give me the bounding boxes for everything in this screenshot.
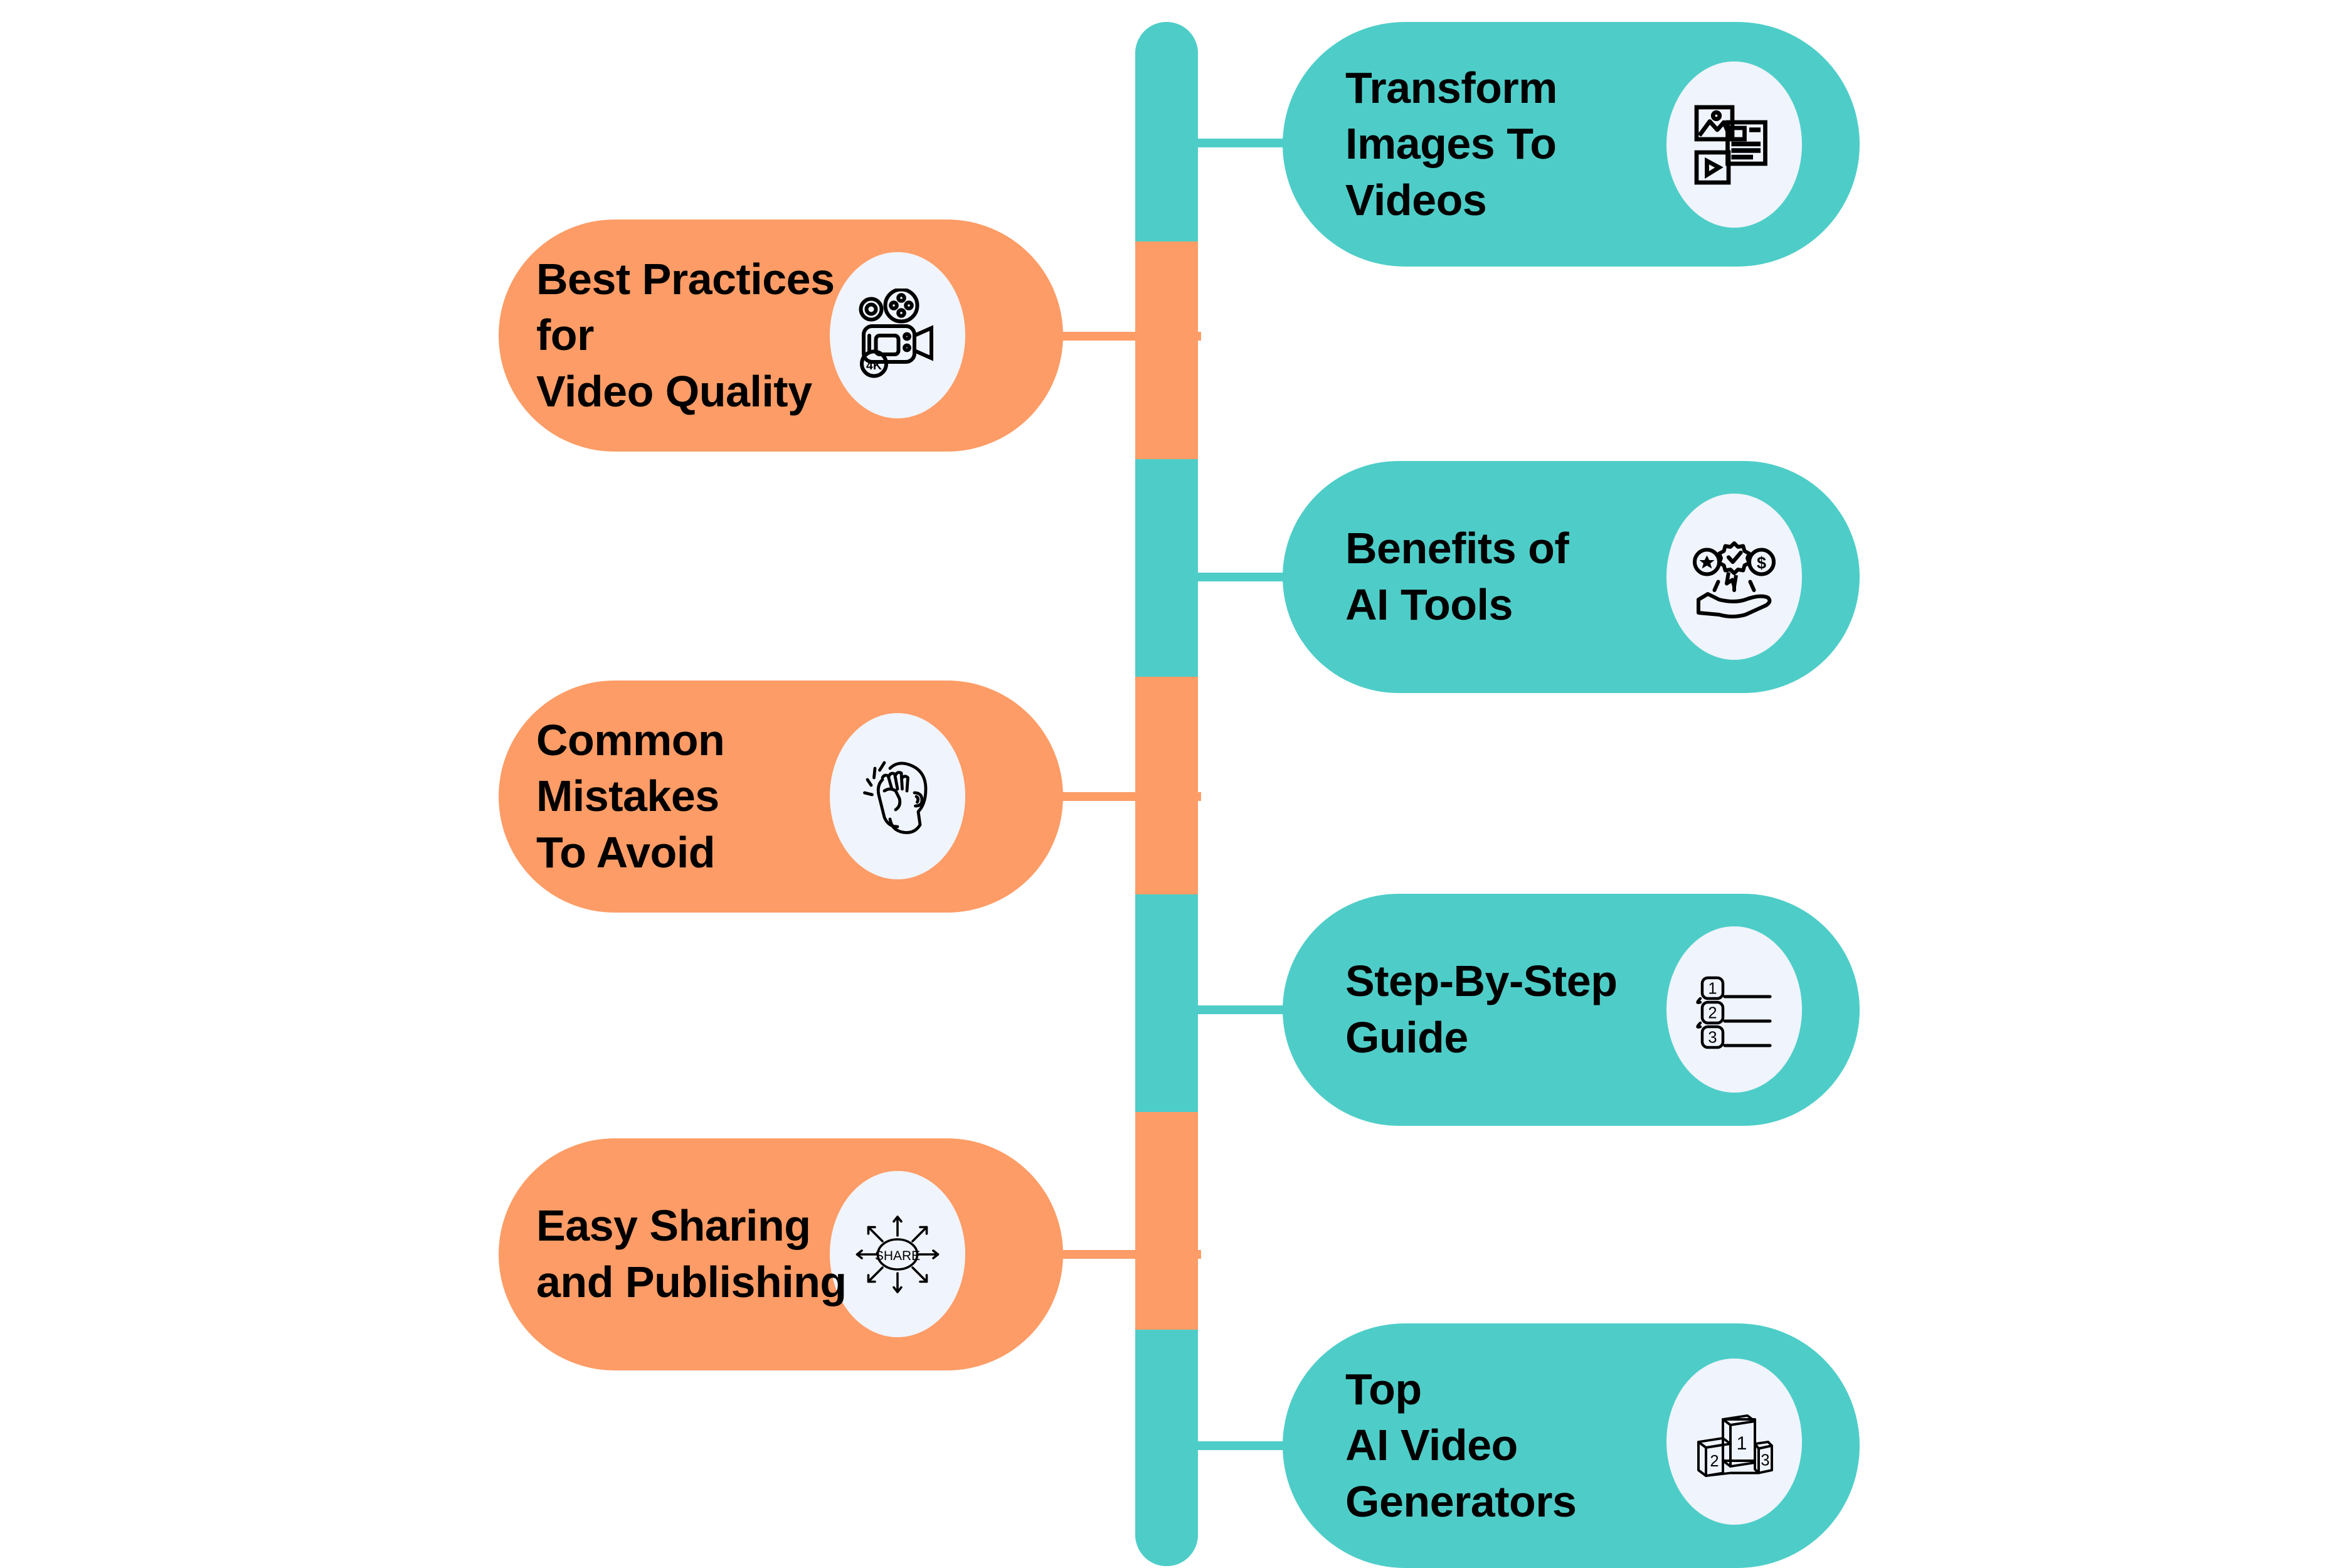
- video-camera-4k-icon: 4K: [830, 252, 965, 418]
- share-burst-icon: SHARE: [830, 1171, 965, 1337]
- list-number-2: 2: [1708, 1004, 1717, 1022]
- connector-common-mistakes-to-avoid: [1060, 792, 1201, 801]
- spine-segment: [1135, 1112, 1198, 1330]
- facepalm-icon: [830, 713, 965, 879]
- list-number-3: 3: [1708, 1029, 1717, 1046]
- podium-place-3: 3: [1761, 1451, 1769, 1469]
- connector-benefits-of-ai-tools: [1192, 573, 1292, 581]
- spine-segment: [1135, 677, 1198, 894]
- connector-transform-images-to-videos: [1192, 139, 1292, 147]
- podium-place-2: 2: [1710, 1453, 1719, 1470]
- spine-segment: [1135, 894, 1198, 1112]
- node-label-easy-sharing-and-publishing: Easy Sharing and Publishing: [536, 1198, 847, 1310]
- connector-top-ai-video-generators: [1192, 1441, 1292, 1450]
- node-common-mistakes-to-avoid[interactable]: Common Mistakes To Avoid: [499, 681, 1063, 913]
- share-word-text: SHARE: [875, 1249, 920, 1263]
- node-label-common-mistakes-to-avoid: Common Mistakes To Avoid: [536, 712, 724, 881]
- node-label-benefits-of-ai-tools: Benefits of AI Tools: [1345, 521, 1569, 633]
- node-label-step-by-step-guide: Step-By-Step Guide: [1345, 953, 1617, 1066]
- spine-segment: [1135, 22, 1198, 241]
- podium-ranking-icon: 1 2 3: [1666, 1359, 1802, 1525]
- spine-segment: [1135, 241, 1198, 459]
- node-label-top-ai-video-generators: Top AI Video Generators: [1345, 1362, 1576, 1530]
- node-easy-sharing-and-publishing[interactable]: Easy Sharing and Publishing SHARE: [499, 1138, 1063, 1370]
- node-best-practices-for-video-quality[interactable]: Best Practices for Video Quality 4K: [499, 220, 1063, 452]
- infographic-canvas: Transform Images To Videos Best Practice…: [0, 0, 2352, 1568]
- node-benefits-of-ai-tools[interactable]: Benefits of AI Tools $: [1283, 461, 1860, 693]
- numbered-list-icon: 1 2 3: [1666, 926, 1802, 1093]
- node-transform-images-to-videos[interactable]: Transform Images To Videos: [1283, 22, 1860, 267]
- image-to-video-icon: [1666, 61, 1802, 228]
- spine-segment: [1135, 459, 1198, 677]
- connector-best-practices-for-video-quality: [1060, 332, 1201, 341]
- hand-holding-rewards-icon: $: [1666, 494, 1802, 660]
- list-number-1: 1: [1708, 980, 1717, 997]
- connector-step-by-step-guide: [1192, 1005, 1292, 1014]
- node-label-transform-images-to-videos: Transform Images To Videos: [1345, 60, 1557, 229]
- node-step-by-step-guide[interactable]: Step-By-Step Guide 1 2 3: [1283, 894, 1860, 1126]
- connector-easy-sharing-and-publishing: [1060, 1250, 1201, 1259]
- podium-place-1: 1: [1737, 1433, 1747, 1454]
- node-top-ai-video-generators[interactable]: Top AI Video Generators 1 2 3: [1283, 1323, 1860, 1568]
- node-label-best-practices-for-video-quality: Best Practices for Video Quality: [536, 252, 835, 420]
- currency-symbol-text: $: [1757, 553, 1766, 572]
- spine-segment: [1135, 1330, 1198, 1566]
- quality-badge-text: 4K: [866, 359, 882, 373]
